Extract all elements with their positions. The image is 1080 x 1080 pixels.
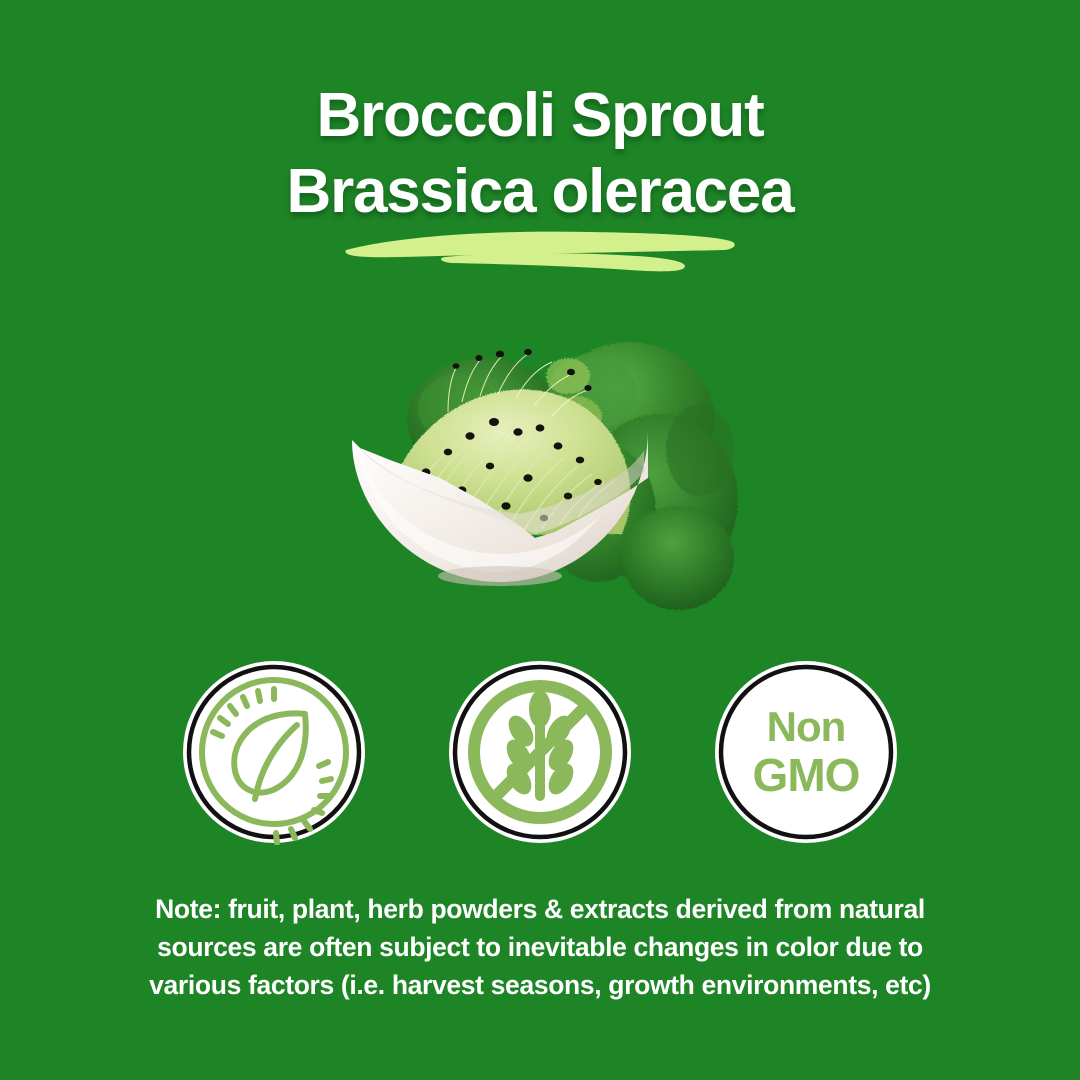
wheat-stem: [535, 717, 545, 801]
title-line-common-name: Broccoli Sprout: [0, 78, 1080, 154]
title-line-scientific-name: Brassica oleracea: [0, 154, 1080, 230]
note-line-2: sources are often subject to inevitable …: [60, 928, 1020, 966]
brush-underline-swoosh: [340, 224, 740, 286]
badge-natural[interactable]: [181, 659, 367, 845]
non-gmo-line1: Non: [767, 703, 846, 750]
note-line-3: various factors (i.e. harvest seasons, g…: [60, 966, 1020, 1004]
note-line-1: Note: fruit, plant, herb powders & extra…: [60, 890, 1020, 928]
disclaimer-note: Note: fruit, plant, herb powders & extra…: [60, 890, 1020, 1004]
swoosh-stroke-lower: [441, 253, 685, 271]
certification-badge-row: Non GMO: [0, 652, 1080, 852]
badge-gluten-free[interactable]: [447, 659, 633, 845]
badge-non-gmo[interactable]: Non GMO: [713, 659, 899, 845]
page-title: Broccoli Sprout Brassica oleracea: [0, 78, 1080, 230]
broccoli-sprouts-bowl-photo: [330, 300, 750, 630]
product-info-card: Broccoli Sprout Brassica oleracea: [0, 0, 1080, 1080]
non-gmo-line2: GMO: [753, 749, 860, 801]
